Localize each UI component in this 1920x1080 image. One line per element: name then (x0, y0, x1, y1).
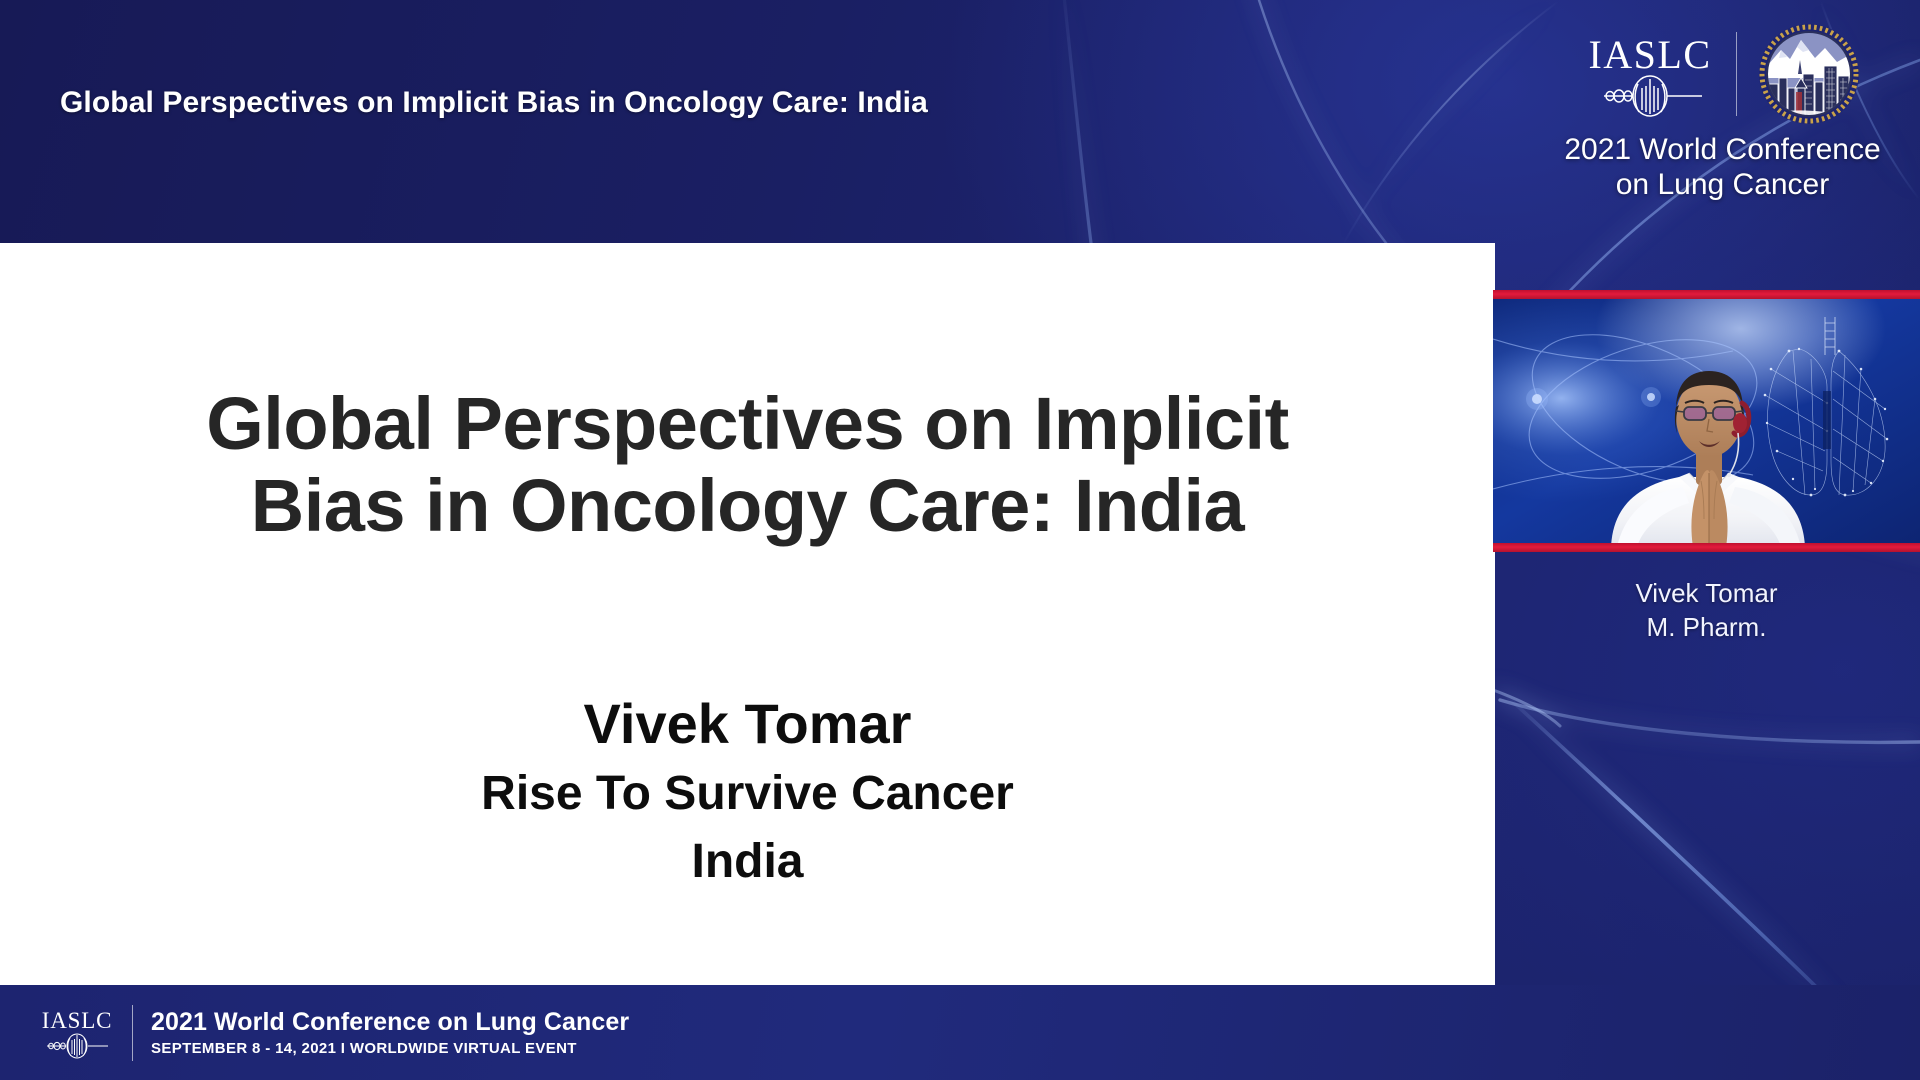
presenter-name: Vivek Tomar (70, 691, 1425, 757)
svg-text:IASLC: IASLC (1588, 32, 1711, 77)
speaker-webcam-feed[interactable] (1493, 299, 1920, 547)
video-top-rule (1493, 290, 1920, 299)
presenter-country: India (70, 831, 1425, 893)
footer-bar: IASLC 2021 World Conference on Lung Canc… (0, 985, 1920, 1080)
denver-city-mountains-badge-icon (1757, 22, 1861, 126)
slide-content-panel[interactable]: Global Perspectives on Implicit Bias in … (0, 243, 1495, 985)
slide-title: Global Perspectives on Implicit Bias in … (70, 383, 1425, 547)
header-bar: Global Perspectives on Implicit Bias in … (0, 0, 1920, 243)
iaslc-logo-icon: IASLC (1584, 24, 1716, 124)
session-title: Global Perspectives on Implicit Bias in … (60, 86, 928, 120)
footer-text-block: 2021 World Conference on Lung Cancer SEP… (151, 1008, 629, 1058)
slide-title-line1: Global Perspectives on Implicit (70, 383, 1425, 465)
conference-marks-row: IASLC (1525, 22, 1920, 126)
svg-text:IASLC: IASLC (42, 1008, 112, 1033)
footer-conference-name: 2021 World Conference on Lung Cancer (151, 1008, 629, 1036)
presentation-viewer: Global Perspectives on Implicit Bias in … (0, 0, 1920, 1080)
conference-name: 2021 World Conference on Lung Cancer (1525, 132, 1920, 203)
conference-lockup: IASLC (1525, 22, 1920, 203)
speaker-video-rail[interactable] (1493, 290, 1920, 560)
conference-name-line2: on Lung Cancer (1525, 167, 1920, 202)
footer-divider (132, 1005, 133, 1061)
footer-dates: SEPTEMBER 8 - 14, 2021 I WORLDWIDE VIRTU… (151, 1040, 629, 1058)
footer-iaslc-logo-icon: IASLC (38, 1002, 116, 1064)
conference-name-line1: 2021 World Conference (1525, 132, 1920, 167)
lockup-divider (1736, 32, 1737, 116)
slide-title-line2: Bias in Oncology Care: India (70, 465, 1425, 547)
footer-lockup: IASLC 2021 World Conference on Lung Canc… (38, 999, 629, 1067)
speaker-credential: M. Pharm. (1493, 612, 1920, 642)
slide-presenter-block: Vivek Tomar Rise To Survive Cancer India (70, 691, 1425, 894)
speaker-caption: Vivek Tomar M. Pharm. (1493, 578, 1920, 642)
speaker-name: Vivek Tomar (1493, 578, 1920, 608)
presenter-organization: Rise To Survive Cancer (70, 763, 1425, 825)
speaker-webcam-image (1493, 299, 1920, 547)
video-bottom-rule (1493, 543, 1920, 552)
